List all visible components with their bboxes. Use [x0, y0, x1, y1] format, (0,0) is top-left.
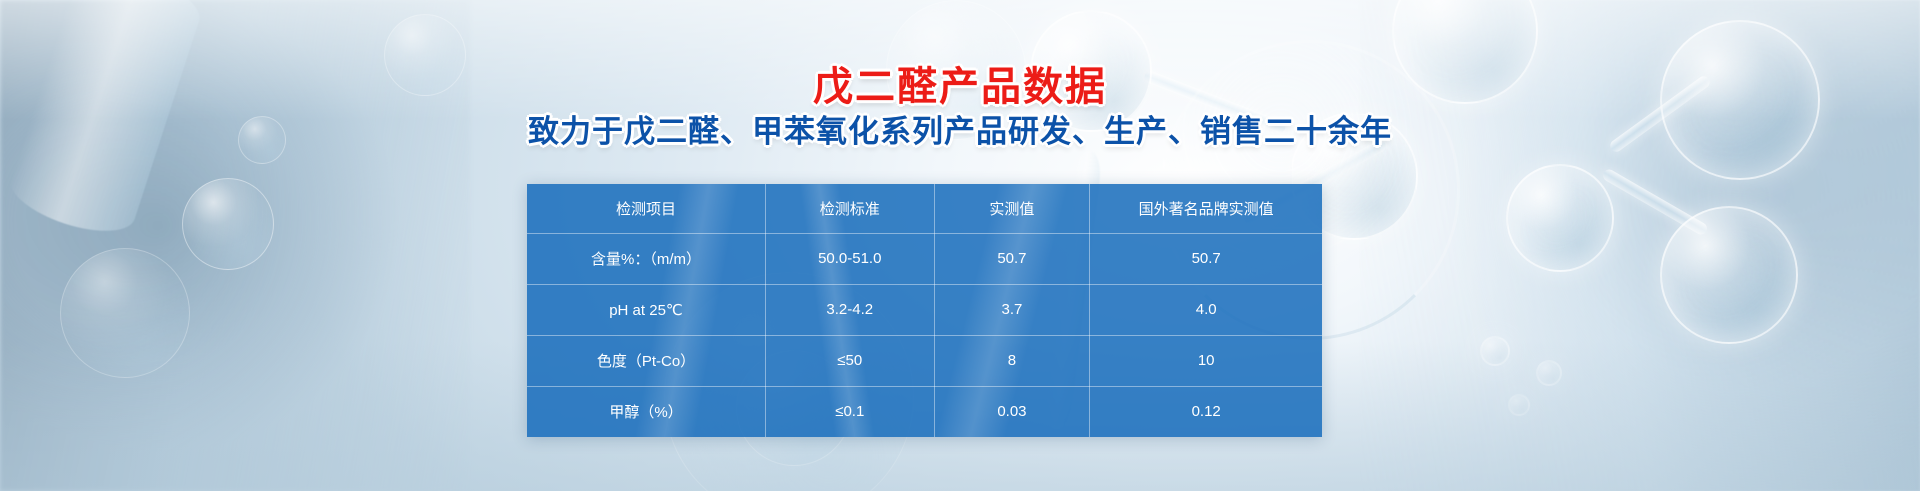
table-row: 甲醇（%） ≤0.1 0.03 0.12	[527, 386, 1322, 437]
cell-foreign: 0.12	[1090, 386, 1322, 437]
cell-measured: 50.7	[934, 233, 1090, 284]
product-data-table-container: 检测项目 检测标准 实测值 国外著名品牌实测值 含量%：（m/m） 50.0-5…	[527, 184, 1322, 437]
cell-standard: 50.0-51.0	[766, 233, 935, 284]
table-row: 色度（Pt-Co） ≤50 8 10	[527, 335, 1322, 386]
page-title: 戊二醛产品数据	[0, 54, 1920, 112]
cell-measured: 8	[934, 335, 1090, 386]
cell-standard: ≤50	[766, 335, 935, 386]
bubble	[182, 178, 274, 270]
cell-foreign: 4.0	[1090, 284, 1322, 335]
column-header-item: 检测项目	[527, 184, 766, 233]
table-row: 含量%：（m/m） 50.0-51.0 50.7 50.7	[527, 233, 1322, 284]
table-header-row: 检测项目 检测标准 实测值 国外著名品牌实测值	[527, 184, 1322, 233]
cell-foreign: 10	[1090, 335, 1322, 386]
column-header-measured: 实测值	[934, 184, 1090, 233]
cell-standard: ≤0.1	[766, 386, 935, 437]
column-header-foreign: 国外著名品牌实测值	[1090, 184, 1322, 233]
product-data-table: 检测项目 检测标准 实测值 国外著名品牌实测值 含量%：（m/m） 50.0-5…	[527, 184, 1322, 437]
cell-foreign: 50.7	[1090, 233, 1322, 284]
cell-item: 含量%：（m/m）	[527, 233, 766, 284]
cell-item: pH at 25℃	[527, 284, 766, 335]
cell-measured: 0.03	[934, 386, 1090, 437]
column-header-standard: 检测标准	[766, 184, 935, 233]
cell-item: 甲醇（%）	[527, 386, 766, 437]
cell-standard: 3.2-4.2	[766, 284, 935, 335]
table-row: pH at 25℃ 3.2-4.2 3.7 4.0	[527, 284, 1322, 335]
cell-measured: 3.7	[934, 284, 1090, 335]
page-subtitle: 致力于戊二醛、甲苯氧化系列产品研发、生产、销售二十余年	[0, 106, 1920, 151]
cell-item: 色度（Pt-Co）	[527, 335, 766, 386]
product-data-banner: 戊二醛产品数据 致力于戊二醛、甲苯氧化系列产品研发、生产、销售二十余年 检测项目…	[0, 0, 1920, 491]
